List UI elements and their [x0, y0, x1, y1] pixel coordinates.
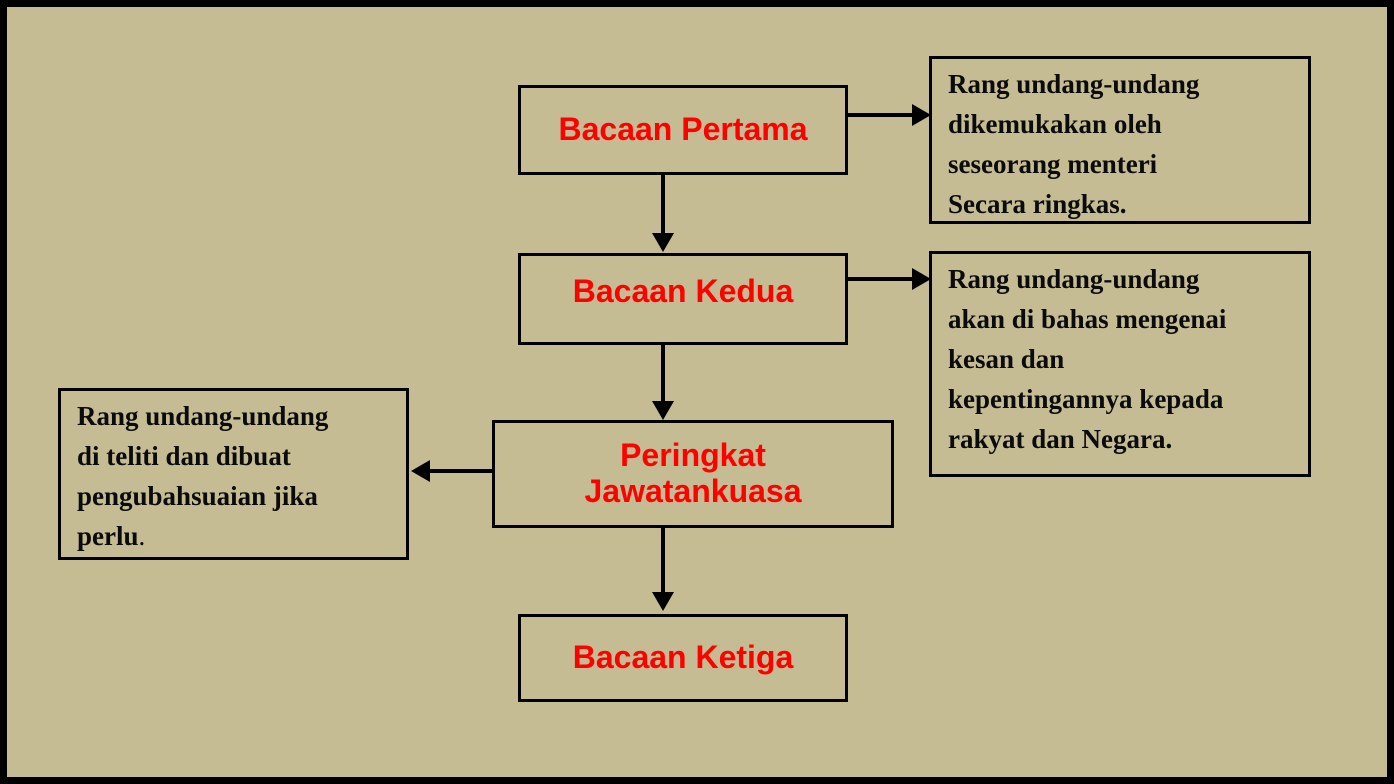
note-peringkat-jawatankuasa-line2: di teliti dan dibuat: [77, 437, 392, 477]
note-peringkat-jawatankuasa[interactable]: Rang undang-undang di teliti dan dibuat …: [58, 388, 409, 560]
note-bacaan-kedua-line2: akan di bahas mengenai: [948, 300, 1294, 340]
connector-kedua-to-jawatankuasa-line: [661, 345, 665, 403]
node-peringkat-jawatankuasa-line2: Jawatankuasa: [495, 474, 891, 510]
note-bacaan-kedua-line5: rakyat dan Negara.: [948, 420, 1294, 460]
diagram-canvas: Bacaan Pertama Bacaan Kedua Peringkat Ja…: [7, 7, 1387, 777]
node-bacaan-pertama[interactable]: Bacaan Pertama: [518, 85, 848, 175]
note-bacaan-pertama-line3: seseorang menteri: [948, 145, 1294, 185]
node-bacaan-ketiga[interactable]: Bacaan Ketiga: [518, 614, 848, 702]
note-peringkat-jawatankuasa-line4: perlu.: [77, 517, 392, 557]
connector-jawatankuasa-to-note-line: [427, 469, 493, 473]
connector-kedua-to-note-arrowhead-icon: [912, 268, 931, 290]
node-bacaan-ketiga-label: Bacaan Ketiga: [521, 640, 845, 676]
note-peringkat-jawatankuasa-line3: pengubahsuaian jika: [77, 477, 392, 517]
connector-jawatankuasa-to-note-arrowhead-icon: [411, 460, 430, 482]
node-bacaan-pertama-label: Bacaan Pertama: [521, 112, 845, 148]
note-bacaan-pertama-line4: Secara ringkas.: [948, 185, 1294, 225]
connector-pertama-to-kedua-arrowhead-icon: [652, 233, 674, 252]
node-bacaan-kedua-label: Bacaan Kedua: [521, 274, 845, 310]
note-peringkat-jawatankuasa-line1: Rang undang-undang: [77, 397, 392, 437]
node-bacaan-kedua[interactable]: Bacaan Kedua: [518, 253, 848, 345]
note-bacaan-kedua-line1: Rang undang-undang: [948, 260, 1294, 300]
connector-pertama-to-kedua-line: [661, 175, 665, 237]
note-bacaan-pertama-line1: Rang undang-undang: [948, 65, 1294, 105]
node-peringkat-jawatankuasa-line1: Peringkat: [495, 438, 891, 474]
connector-pertama-to-note-arrowhead-icon: [912, 104, 931, 126]
connector-kedua-to-jawatankuasa-arrowhead-icon: [652, 401, 674, 420]
connector-kedua-to-note-line: [848, 277, 916, 281]
connector-jawatankuasa-to-ketiga-arrowhead-icon: [652, 592, 674, 611]
node-peringkat-jawatankuasa[interactable]: Peringkat Jawatankuasa: [492, 420, 894, 528]
note-bacaan-pertama[interactable]: Rang undang-undang dikemukakan oleh sese…: [929, 56, 1311, 224]
note-bacaan-kedua[interactable]: Rang undang-undang akan di bahas mengena…: [929, 251, 1311, 477]
note-peringkat-jawatankuasa-line4-word: perlu: [77, 521, 139, 551]
note-bacaan-kedua-line4: kepentingannya kepada: [948, 380, 1294, 420]
connector-jawatankuasa-to-ketiga-line: [661, 528, 665, 594]
note-bacaan-pertama-line2: dikemukakan oleh: [948, 105, 1294, 145]
connector-pertama-to-note-line: [848, 113, 916, 117]
screenshot-root: Bacaan Pertama Bacaan Kedua Peringkat Ja…: [0, 0, 1394, 784]
note-peringkat-jawatankuasa-line4-period: .: [139, 521, 146, 551]
note-bacaan-kedua-line3: kesan dan: [948, 340, 1294, 380]
